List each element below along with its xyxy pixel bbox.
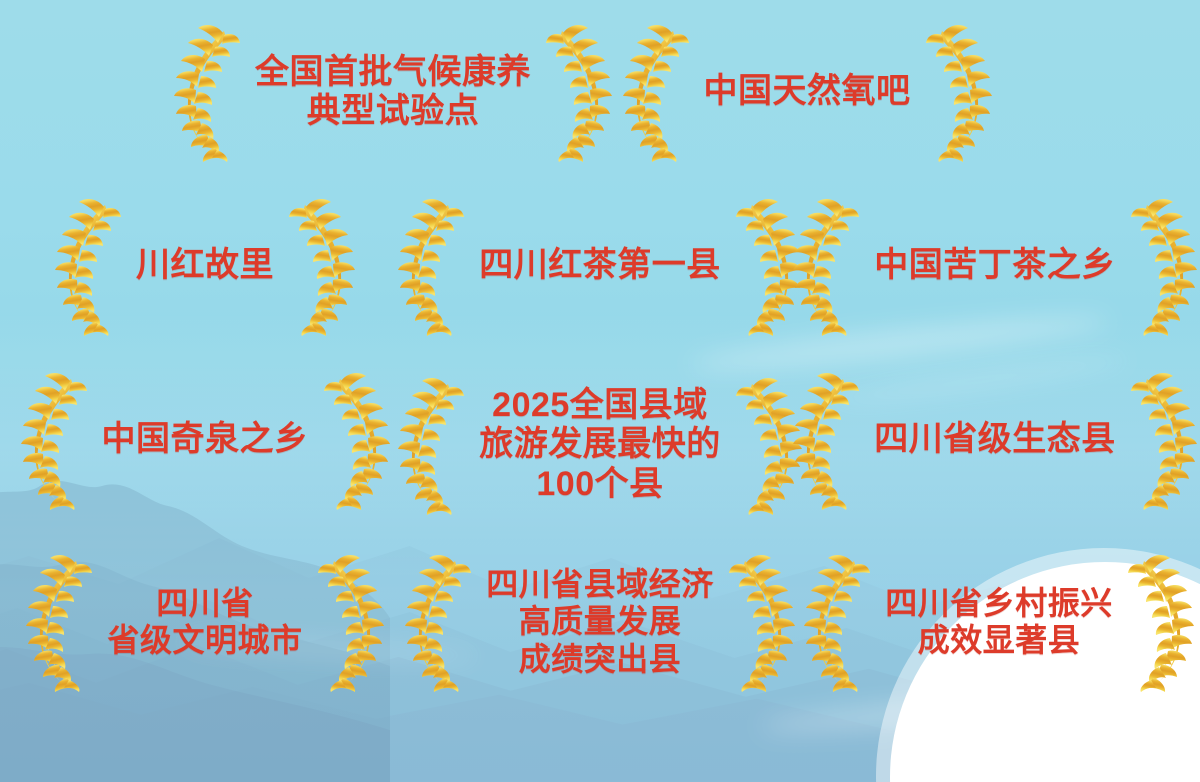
laurel-wreath-icon	[48, 196, 126, 336]
honor-badge[interactable]: 中国奇泉之乡	[10, 370, 400, 510]
honor-badge[interactable]: 四川省 省级文明城市	[10, 552, 400, 692]
laurel-wreath-icon	[391, 375, 469, 515]
badge-label: 2025全国县域 旅游发展最快的 100个县	[469, 386, 731, 504]
laurel-wreath-icon	[167, 22, 245, 162]
honor-badge[interactable]: 川红故里	[10, 196, 400, 336]
honor-badge[interactable]: 全国首批气候康养 典型试验点	[198, 22, 588, 162]
laurel-wreath-icon	[1123, 552, 1200, 692]
badge-label: 川红故里	[126, 246, 284, 285]
honor-badge[interactable]: 四川省乡村振兴 成效显著县	[800, 552, 1198, 692]
laurel-wreath-icon	[1126, 370, 1200, 510]
laurel-wreath-icon	[786, 196, 864, 336]
laurel-wreath-icon	[541, 22, 619, 162]
laurel-wreath-icon	[1126, 196, 1200, 336]
badge-label: 四川省 省级文明城市	[97, 585, 312, 659]
honor-badge[interactable]: 中国天然氧吧	[612, 22, 1002, 162]
laurel-wreath-icon	[14, 370, 92, 510]
honor-badge-grid: 全国首批气候康养 典型试验点 中国天然氧吧 川红故里	[0, 0, 1200, 782]
honor-badge[interactable]: 四川省县域经济 高质量发展 成绩突出县	[405, 546, 795, 698]
laurel-wreath-icon	[921, 22, 999, 162]
laurel-wreath-icon	[19, 552, 97, 692]
laurel-wreath-icon	[319, 370, 397, 510]
badge-label: 四川红茶第一县	[469, 246, 731, 285]
badge-label: 四川省乡村振兴 成效显著县	[875, 585, 1123, 659]
laurel-wreath-icon	[313, 552, 391, 692]
laurel-wreath-icon	[616, 22, 694, 162]
honor-badge[interactable]: 2025全国县域 旅游发展最快的 100个县	[405, 370, 795, 520]
poster-root: 全国首批气候康养 典型试验点 中国天然氧吧 川红故里	[0, 0, 1200, 782]
laurel-wreath-icon	[284, 196, 362, 336]
laurel-wreath-icon	[786, 370, 864, 510]
badge-label: 四川省县域经济 高质量发展 成绩突出县	[476, 566, 724, 677]
laurel-wreath-icon	[724, 552, 802, 692]
honor-badge[interactable]: 中国苦丁茶之乡	[800, 196, 1190, 336]
badge-label: 中国天然氧吧	[694, 72, 921, 111]
laurel-wreath-icon	[391, 196, 469, 336]
laurel-wreath-icon	[797, 552, 875, 692]
badge-label: 全国首批气候康养 典型试验点	[245, 53, 541, 132]
laurel-wreath-icon	[398, 552, 476, 692]
honor-badge[interactable]: 四川红茶第一县	[405, 196, 795, 336]
badge-label: 中国苦丁茶之乡	[864, 246, 1126, 285]
badge-label: 中国奇泉之乡	[92, 420, 319, 459]
honor-badge[interactable]: 四川省级生态县	[800, 370, 1190, 510]
badge-label: 四川省级生态县	[864, 420, 1126, 459]
